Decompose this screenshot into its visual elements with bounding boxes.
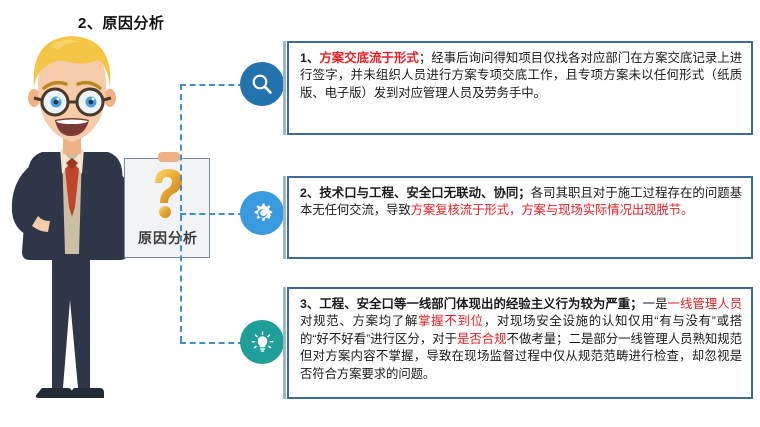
connector-branch-1 (180, 84, 244, 86)
lightbulb-glyph (251, 331, 274, 354)
lightbulb-icon[interactable] (240, 320, 284, 364)
cause-2-seg-0: 2、技术口与工程、安全口无联动、协同； (300, 186, 531, 200)
cause-box-3: 3、工程、安全口等一线部门体现出的经验主义行为较为严重；一是一线管理人员对规范、… (287, 287, 753, 399)
magnifier-glyph (251, 73, 273, 95)
sign-hand-grip (158, 152, 180, 162)
cause-box-2: 2、技术口与工程、安全口无联动、协同；各司其职且对于施工过程存在的问题基本无任何… (287, 176, 753, 259)
cause-1-seg-0: 1、 (300, 51, 319, 65)
gear-wrench-icon[interactable] (240, 191, 284, 235)
cause-box-1: 1、方案交底流于形式；经事后询问得知项目仅找各对应部门在方案交底记录上进行签字，… (287, 41, 753, 135)
cause-text-3: 3、工程、安全口等一线部门体现出的经验主义行为较为严重；一是一线管理人员对规范、… (300, 296, 742, 383)
sign-label: 原因分析 (125, 228, 211, 248)
slide-canvas: 2、原因分析 (0, 0, 760, 427)
cause-3-seg-4: 掌握不到位 (418, 314, 484, 328)
cause-3-seg-6: 是否合规 (457, 332, 507, 346)
cause-1-seg-1: 方案交底流于形式 (319, 51, 418, 65)
cause-3-seg-2: 一线管理人员 (668, 297, 742, 311)
cause-3-seg-1: 一是 (643, 297, 668, 311)
cause-3-seg-0: 3、工程、安全口等一线部门体现出的经验主义行为较为严重； (300, 297, 643, 311)
gear-wrench-glyph (251, 202, 274, 225)
connector-branch-2 (180, 213, 244, 215)
connector-branch-3 (180, 342, 244, 344)
magnifier-icon[interactable] (240, 62, 284, 106)
cause-2-seg-2: 方案复核流于形式，方案与现场实际情况出现脱节。 (411, 203, 694, 217)
cause-text-2: 2、技术口与工程、安全口无联动、协同；各司其职且对于施工过程存在的问题基本无任何… (300, 185, 742, 220)
cause-text-1: 1、方案交底流于形式；经事后询问得知项目仅找各对应部门在方案交底记录上进行签字，… (300, 50, 742, 102)
cause-analysis-sign: 原因分析 (124, 158, 210, 258)
cause-3-seg-3: 对规范、方案均了解 (300, 314, 418, 328)
